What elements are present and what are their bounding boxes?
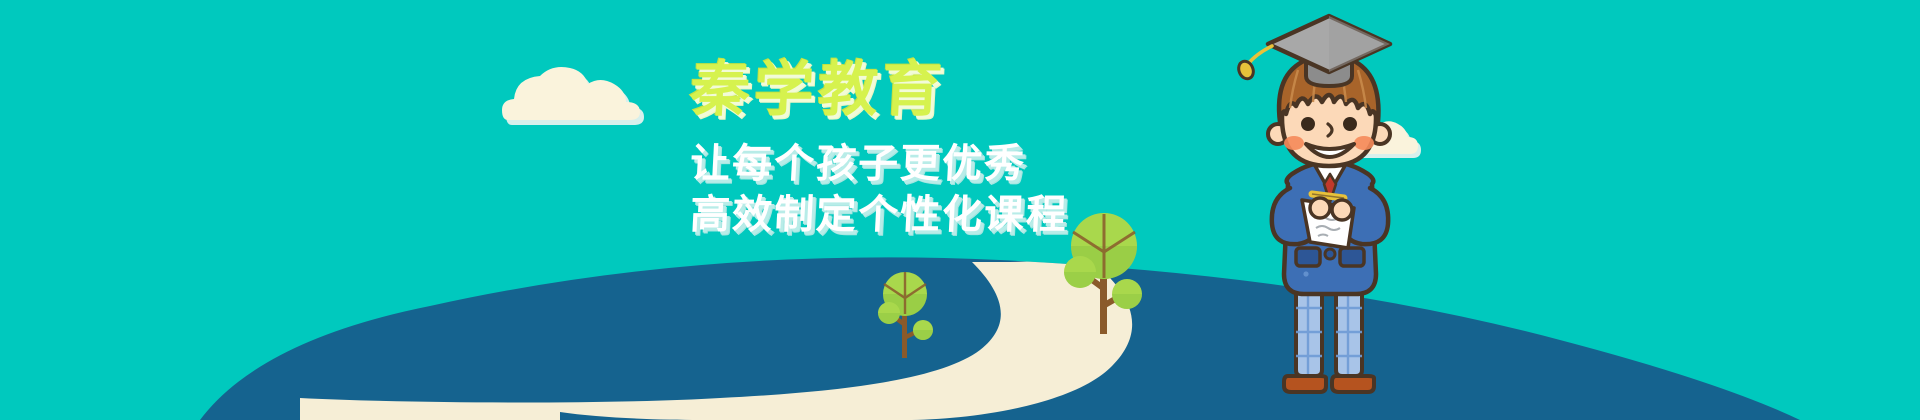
subtitle-line-2: 高效制定个性化课程 — [689, 193, 1211, 238]
headline-text-block: 秦学教育 让每个孩子更优秀 高效制定个性化课程 — [690, 60, 1210, 238]
promotional-banner: 秦学教育 让每个孩子更优秀 高效制定个性化课程 — [0, 0, 1920, 420]
subtitle-line-1: 让每个孩子更优秀 — [689, 142, 1211, 187]
boy-legs — [1284, 288, 1374, 392]
brand-title: 秦学教育 — [688, 60, 1211, 120]
